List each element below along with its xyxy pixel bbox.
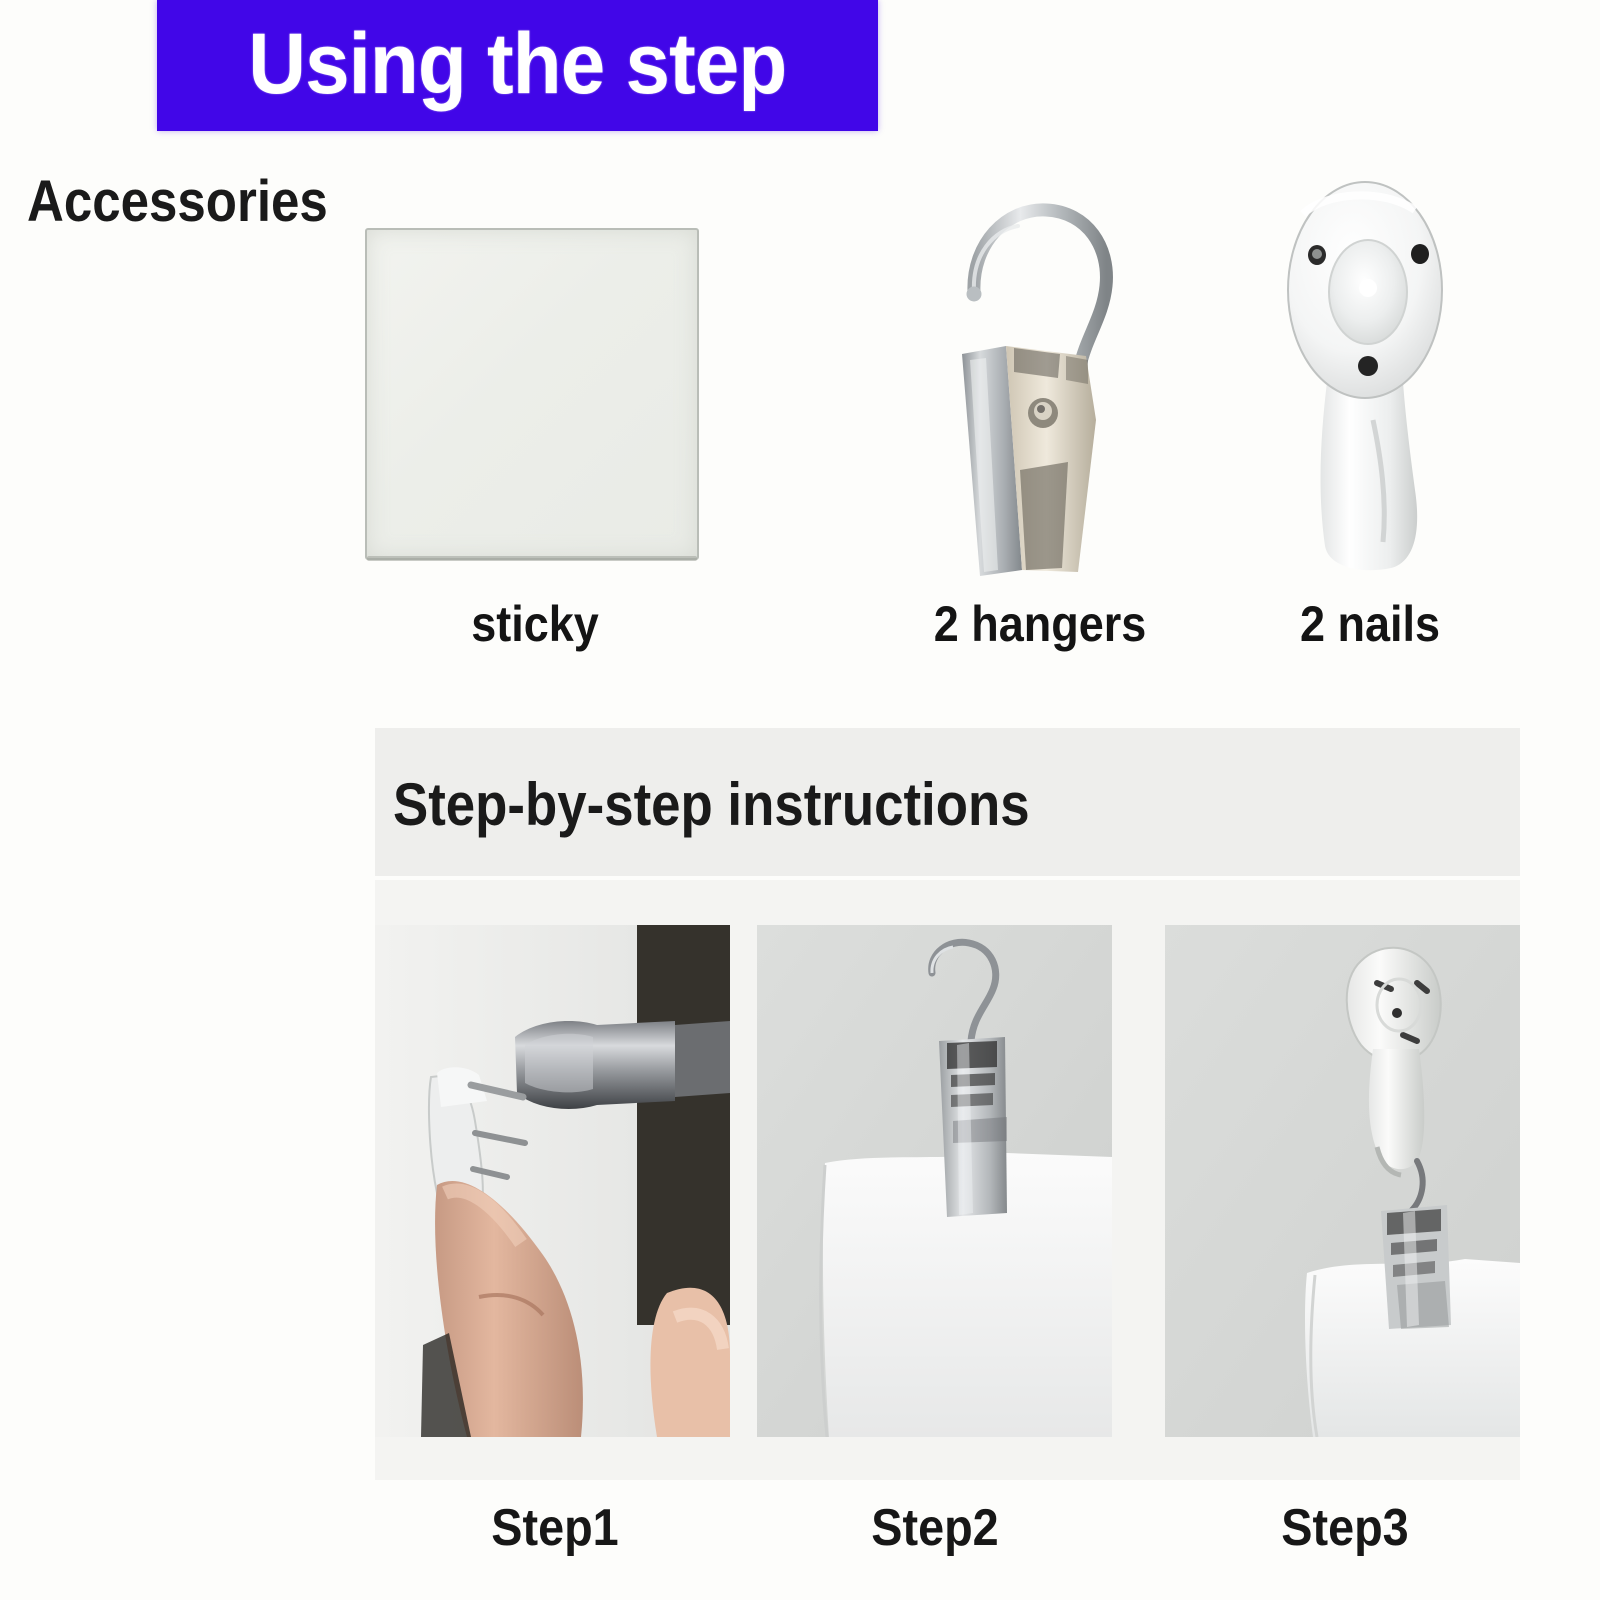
step-image-1 bbox=[375, 925, 730, 1437]
step-image-2 bbox=[757, 925, 1112, 1437]
accessory-item-sticky: sticky bbox=[300, 170, 770, 590]
step-label-3: Step3 bbox=[1183, 1498, 1507, 1558]
wall-hook-icon bbox=[1205, 170, 1535, 590]
accessory-item-nails: 2 nails bbox=[1205, 170, 1535, 590]
step-label-1: Step1 bbox=[393, 1498, 717, 1558]
steps-strip bbox=[375, 880, 1520, 1480]
step-label-2: Step2 bbox=[773, 1498, 1097, 1558]
page-title: Using the step bbox=[248, 21, 786, 107]
hook-clip-icon bbox=[845, 170, 1235, 590]
accessory-label-nails: 2 nails bbox=[1222, 595, 1519, 653]
step-image-3 bbox=[1165, 925, 1520, 1437]
adhesive-pad-icon bbox=[300, 170, 770, 590]
accessories-row: sticky bbox=[0, 170, 1600, 690]
accessory-item-hangers: 2 hangers bbox=[845, 170, 1235, 590]
accessory-label-sticky: sticky bbox=[324, 595, 747, 653]
instructions-heading: Step-by-step instructions bbox=[393, 770, 1030, 839]
title-banner: Using the step bbox=[157, 0, 878, 131]
accessory-label-hangers: 2 hangers bbox=[865, 595, 1216, 653]
